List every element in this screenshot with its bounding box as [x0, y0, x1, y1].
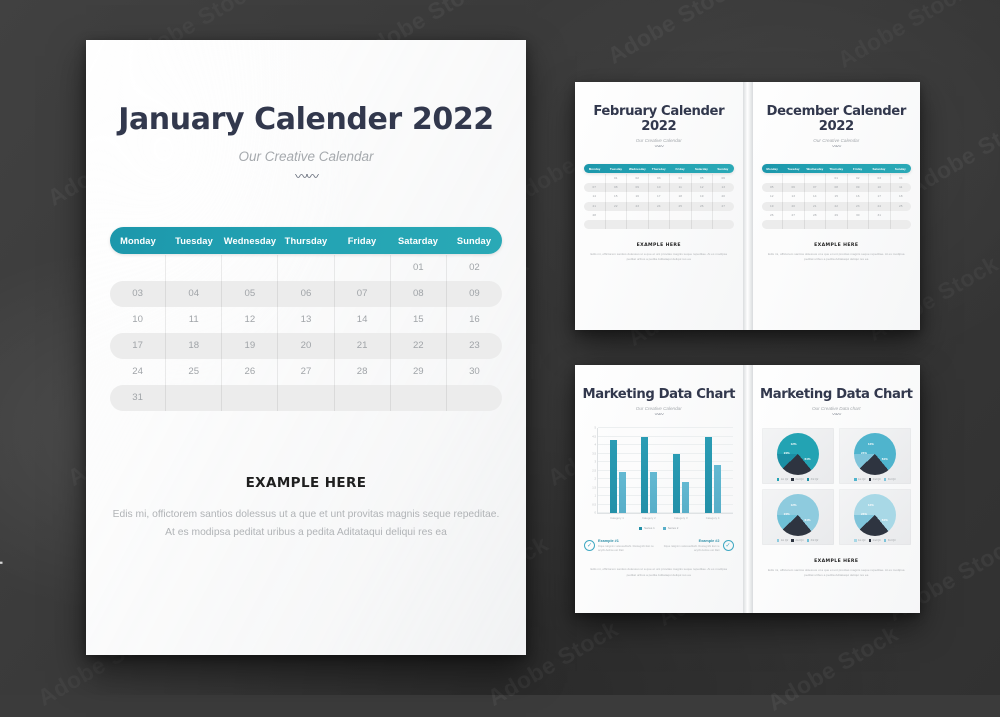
- calendar-week-row: 21222324252627: [584, 202, 734, 211]
- legend-swatch-icon: [807, 478, 810, 481]
- footer-title: EXAMPLE HERE: [767, 243, 907, 248]
- footer-body: Edis mi, offictorem santios dolessus ut …: [589, 567, 729, 578]
- bar-chart-y-tick: 4: [595, 444, 597, 447]
- calendar-day-empty: [762, 220, 784, 229]
- pie-slice-label: 64%: [882, 518, 888, 522]
- calendar-week-row: 0102: [110, 255, 502, 281]
- calendar-day-empty: [584, 220, 606, 229]
- calendar-day-cell[interactable]: 12: [222, 307, 278, 333]
- example-body: Dque ratignim velesseditaht. Restegnibi …: [598, 545, 656, 554]
- calendar-week-row: [762, 220, 912, 229]
- calendar-day-cell[interactable]: 24: [110, 359, 166, 385]
- calendar-day-cell[interactable]: 05: [222, 281, 278, 307]
- calendar-day-cell[interactable]: 12: [762, 192, 784, 201]
- legend-item: 1st Qtr: [854, 478, 866, 481]
- calendar-day-cell[interactable]: 21: [335, 333, 391, 359]
- calendar-day-cell[interactable]: 27: [278, 359, 334, 385]
- legend-label: 2nd Qtr: [873, 539, 881, 542]
- check-circle-icon: ✓: [723, 540, 734, 551]
- calendar-day-cell[interactable]: 27: [713, 202, 734, 211]
- december-subtitle: Our Creative Calendar: [753, 138, 921, 143]
- legend-label: 1st Qtr: [781, 478, 789, 481]
- calendar-day-empty: [391, 385, 447, 411]
- bar-groups: [598, 428, 733, 513]
- calendar-day-cell[interactable]: 04: [670, 174, 692, 183]
- weekday-thursday: Thursday: [278, 236, 334, 246]
- legend-item: 2nd Qtr: [791, 539, 803, 542]
- calendar-day-cell[interactable]: 19: [762, 202, 784, 211]
- calendar-day-cell[interactable]: 20: [783, 202, 805, 211]
- pie-chart-grid: 64%24%12%1st Qtr2nd Qtr3rd Qtr64%24%12%1…: [762, 428, 912, 545]
- calendar-day-cell[interactable]: 14: [335, 307, 391, 333]
- calendar-day-cell[interactable]: 08: [826, 183, 848, 192]
- calendar-day-empty: [649, 211, 671, 220]
- january-subtitle: Our Creative Calendar: [86, 149, 526, 164]
- footer-body: Edis mi, offictorem santios dolessus ut …: [767, 568, 907, 579]
- weekday-wednesday: Wednesday: [222, 236, 278, 246]
- legend-label: 2nd Qtr: [795, 539, 803, 542]
- pie-chart-card: 64%24%12%1st Qtr2nd Qtr3rd Qtr: [839, 489, 911, 545]
- legend-label: 3rd Qtr: [811, 539, 819, 542]
- bar-series-1: [641, 437, 648, 514]
- legend-swatch-icon: [663, 527, 666, 530]
- bar-series-1: [673, 454, 680, 514]
- bar-chart-y-tick: 2.5: [592, 469, 596, 472]
- bar-group: [697, 428, 729, 513]
- calendar-day-empty: [783, 220, 805, 229]
- bar-chart-y-tick: 1.5: [592, 486, 596, 489]
- calendar-week-row: 28: [584, 211, 734, 220]
- check-circle-icon: ✓: [584, 540, 595, 551]
- legend-swatch-icon: [777, 478, 780, 481]
- legend-label: Series 1: [644, 526, 655, 530]
- calendar-day-cell[interactable]: 22: [606, 202, 628, 211]
- legend-item: 2nd Qtr: [791, 478, 803, 481]
- calendar-day-cell[interactable]: 15: [391, 307, 447, 333]
- bar-series-2: [682, 482, 689, 513]
- calendar-day-cell[interactable]: 25: [891, 202, 912, 211]
- bar-chart-x-label: Category 3: [665, 516, 697, 520]
- calendar-day-cell[interactable]: 28: [584, 211, 606, 220]
- pie-chart-card: 64%24%12%1st Qtr2nd Qtr3rd Qtr: [839, 428, 911, 484]
- marketing-chart-spread: Marketing Data Chart Our Creative Calend…: [575, 365, 920, 613]
- bar-chart-y-tick: 1: [595, 495, 597, 498]
- bar-chart: 00.511.522.533.544.55 Category 1Category…: [585, 428, 733, 530]
- calendar-day-cell[interactable]: 18: [166, 333, 222, 359]
- january-footer: EXAMPLE HERE Edis mi, offictorem santios…: [86, 475, 526, 542]
- december-title: December Calender 2022: [753, 104, 921, 134]
- calendar-day-empty: [891, 220, 912, 229]
- calendar-day-cell[interactable]: 31: [869, 211, 891, 220]
- calendar-day-cell[interactable]: 23: [627, 202, 649, 211]
- legend-swatch-icon: [807, 539, 810, 542]
- calendar-day-cell[interactable]: 30: [447, 359, 502, 385]
- february-title: February Calender 2022: [575, 104, 743, 134]
- legend-swatch-icon: [777, 539, 780, 542]
- bar-chart-y-tick: 4.5: [592, 435, 596, 438]
- legend-swatch-icon: [884, 539, 887, 542]
- legend-swatch-icon: [869, 478, 872, 481]
- legend-swatch-icon: [791, 478, 794, 481]
- pie-slice-label: 64%: [882, 457, 888, 461]
- calendar-day-cell[interactable]: 02: [848, 174, 870, 183]
- calendar-day-empty: [606, 220, 628, 229]
- squiggle-divider-icon: 〰〰: [575, 413, 743, 418]
- calendar-day-empty: [670, 220, 692, 229]
- calendar-day-cell[interactable]: 27: [783, 211, 805, 220]
- calendar-day-cell[interactable]: 11: [891, 183, 912, 192]
- weekday-thursday: Thursday: [826, 167, 847, 171]
- calendar-day-cell[interactable]: 09: [447, 281, 502, 307]
- calendar-day-cell[interactable]: 24: [649, 202, 671, 211]
- calendar-day-cell[interactable]: 05: [762, 183, 784, 192]
- pie-chart: 64%24%12%: [777, 494, 819, 536]
- weekday-tuesday: Tuesday: [166, 236, 222, 246]
- legend-label: 1st Qtr: [858, 539, 866, 542]
- february-weeks: 0102030405060708091011121314151617181920…: [584, 174, 734, 229]
- legend-swatch-icon: [639, 527, 642, 530]
- calendar-day-empty: [848, 220, 870, 229]
- weekday-satarday: Satarday: [691, 167, 712, 171]
- calendar-day-cell[interactable]: 14: [805, 192, 827, 201]
- calendar-day-empty: [783, 174, 805, 183]
- calendar-day-cell[interactable]: 04: [166, 281, 222, 307]
- calendar-day-cell[interactable]: 15: [826, 192, 848, 201]
- calendar-day-empty: [166, 385, 222, 411]
- calendar-day-cell[interactable]: 09: [848, 183, 870, 192]
- legend-label: 3rd Qtr: [888, 478, 896, 481]
- calendar-week-row: 24252627282930: [110, 359, 502, 385]
- calendar-day-cell[interactable]: 30: [848, 211, 870, 220]
- calendar-day-cell[interactable]: 16: [447, 307, 502, 333]
- legend-item: 3rd Qtr: [807, 478, 819, 481]
- calendar-week-row: 262728293031: [762, 211, 912, 220]
- december-calendar-table: MondayTuesdayWednesdayThursdayFridaySata…: [762, 164, 912, 229]
- weekday-header-row: MondayTuesdayWednesdayThursdayFridaySata…: [584, 164, 734, 173]
- legend-label: Series 2: [668, 526, 679, 530]
- footer-body: Edis mi, offictorem santios dolessus ut …: [112, 506, 500, 542]
- footer-body: Edis mi, offictorem santios dolessus ut …: [589, 252, 729, 263]
- february-subtitle: Our Creative Calendar: [575, 138, 743, 143]
- bar-series-2: [714, 465, 721, 513]
- calendar-day-empty: [278, 255, 334, 281]
- bar-group: [634, 428, 666, 513]
- calendar-day-empty: [805, 174, 827, 183]
- calendar-day-cell[interactable]: 08: [391, 281, 447, 307]
- bar-chart-legend: Series 1Series 2: [585, 526, 733, 530]
- calendar-day-cell[interactable]: 16: [848, 192, 870, 201]
- pie-slice-label: 12%: [868, 503, 874, 507]
- example-title: Example #2: [661, 539, 719, 543]
- pie-slice-label: 64%: [804, 457, 810, 461]
- calendar-day-cell[interactable]: 23: [848, 202, 870, 211]
- calendar-day-cell[interactable]: 02: [447, 255, 502, 281]
- calendar-day-cell[interactable]: 03: [110, 281, 166, 307]
- calendar-day-cell[interactable]: 21: [584, 202, 606, 211]
- weekday-sunday: Sunday: [712, 167, 733, 171]
- footer-title: EXAMPLE HERE: [112, 475, 500, 491]
- calendar-day-cell[interactable]: 01: [606, 174, 628, 183]
- calendar-day-cell[interactable]: 26: [762, 211, 784, 220]
- calendar-day-cell[interactable]: 01: [391, 255, 447, 281]
- pie-chart-legend: 1st Qtr2nd Qtr3rd Qtr: [777, 539, 819, 542]
- calendar-day-cell[interactable]: 11: [670, 183, 692, 192]
- bar-series-1: [705, 437, 712, 514]
- pie-chart: 64%24%12%: [854, 433, 896, 475]
- bar-series-1: [610, 440, 617, 513]
- bar-chart-y-tick: 3.5: [592, 452, 596, 455]
- calendar-week-row: 19202122232425: [762, 202, 912, 211]
- pie-chart: 64%24%12%: [854, 494, 896, 536]
- calendar-day-cell[interactable]: 03: [649, 174, 671, 183]
- calendar-day-cell[interactable]: 25: [670, 202, 692, 211]
- pie-chart-legend: 1st Qtr2nd Qtr3rd Qtr: [777, 478, 819, 481]
- legend-label: 1st Qtr: [858, 478, 866, 481]
- weekday-sunday: Sunday: [890, 167, 911, 171]
- weekday-sunday: Sunday: [446, 236, 502, 246]
- calendar-week-row: 12131415161718: [762, 192, 912, 201]
- calendar-day-cell[interactable]: 24: [869, 202, 891, 211]
- calendar-day-cell[interactable]: 07: [805, 183, 827, 192]
- calendar-day-empty: [606, 211, 628, 220]
- pie-slice-label: 24%: [861, 512, 867, 516]
- calendar-week-row: 03040506070809: [110, 281, 502, 307]
- calendar-day-empty: [649, 220, 671, 229]
- example-text: Example #1Dque ratignim velesseditaht. R…: [598, 539, 656, 553]
- calendar-day-cell[interactable]: 18: [891, 192, 912, 201]
- calendar-day-empty: [627, 220, 649, 229]
- calendar-day-cell[interactable]: 29: [826, 211, 848, 220]
- stock-id-watermark: Adobe Stock | #479083504: [0, 454, 4, 681]
- bar-group: [602, 428, 634, 513]
- weekday-tuesday: Tuesday: [605, 167, 626, 171]
- legend-item: Series 1: [639, 526, 655, 530]
- calendar-day-cell[interactable]: 07: [335, 281, 391, 307]
- legend-label: 2nd Qtr: [795, 478, 803, 481]
- calendar-day-empty: [713, 220, 734, 229]
- calendar-day-cell[interactable]: 13: [278, 307, 334, 333]
- pie-chart-legend: 1st Qtr2nd Qtr3rd Qtr: [854, 478, 896, 481]
- calendar-day-cell[interactable]: 29: [391, 359, 447, 385]
- calendar-day-empty: [584, 174, 606, 183]
- bar-chart-x-label: Category 2: [633, 516, 665, 520]
- calendar-day-empty: [627, 211, 649, 220]
- calendar-day-cell[interactable]: 17: [110, 333, 166, 359]
- calendar-day-cell[interactable]: 06: [278, 281, 334, 307]
- calendar-day-cell[interactable]: 19: [692, 192, 714, 201]
- bar-group: [665, 428, 697, 513]
- weekday-tuesday: Tuesday: [783, 167, 804, 171]
- calendar-day-cell[interactable]: 14: [584, 192, 606, 201]
- squiggle-divider-icon: 〰〰: [575, 145, 743, 150]
- calendar-day-cell[interactable]: 11: [166, 307, 222, 333]
- footer-body: Edis mi, offictorem santios dolessus ut …: [767, 252, 907, 263]
- calendar-day-cell[interactable]: 26: [692, 202, 714, 211]
- legend-label: 1st Qtr: [781, 539, 789, 542]
- calendar-day-cell[interactable]: 08: [606, 183, 628, 192]
- pie-chart-title: Marketing Data Chart: [753, 387, 921, 402]
- february-calendar-page: February Calender 2022 Our Creative Cale…: [575, 82, 743, 330]
- weekday-monday: Monday: [762, 167, 783, 171]
- calendar-day-cell[interactable]: 10: [869, 183, 891, 192]
- calendar-day-cell[interactable]: 28: [805, 211, 827, 220]
- bar-chart-y-tick: 0: [595, 512, 597, 515]
- calendar-day-cell[interactable]: 22: [826, 202, 848, 211]
- calendar-day-cell[interactable]: 18: [670, 192, 692, 201]
- spread-gutter: [743, 82, 753, 330]
- footer-title: EXAMPLE HERE: [767, 559, 907, 564]
- bar-chart-title: Marketing Data Chart: [575, 387, 743, 402]
- legend-item: Series 2: [663, 526, 679, 530]
- calendar-day-cell[interactable]: 20: [713, 192, 734, 201]
- calendar-day-empty: [447, 385, 502, 411]
- calendar-day-cell[interactable]: 05: [692, 174, 714, 183]
- calendar-spread: February Calender 2022 Our Creative Cale…: [575, 82, 920, 330]
- legend-label: 3rd Qtr: [888, 539, 896, 542]
- calendar-day-cell[interactable]: 17: [869, 192, 891, 201]
- calendar-week-row: 01020304: [762, 174, 912, 183]
- weekday-friday: Friday: [847, 167, 868, 171]
- footer-title: EXAMPLE HERE: [589, 243, 729, 248]
- calendar-week-row: 14151617181920: [584, 192, 734, 201]
- calendar-week-row: 10111213141516: [110, 307, 502, 333]
- calendar-day-empty: [692, 211, 714, 220]
- weekday-friday: Friday: [669, 167, 690, 171]
- calendar-day-empty: [335, 385, 391, 411]
- bar-chart-plot-area: 00.511.522.533.544.55: [597, 428, 733, 514]
- bar-chart-footer: Edis mi, offictorem santios dolessus ut …: [575, 567, 743, 578]
- calendar-day-cell[interactable]: 13: [713, 183, 734, 192]
- december-calendar-page: December Calender 2022 Our Creative Cale…: [753, 82, 921, 330]
- january-calendar-table: MondayTuesdayWednesdayThursdayFridaySata…: [110, 227, 502, 411]
- calendar-day-cell[interactable]: 26: [222, 359, 278, 385]
- calendar-week-row: 17181920212223: [110, 333, 502, 359]
- example-title: Example #1: [598, 539, 656, 543]
- december-footer: EXAMPLE HERE Edis mi, offictorem santios…: [753, 243, 921, 263]
- calendar-day-empty: [278, 385, 334, 411]
- legend-item: 3rd Qtr: [884, 539, 896, 542]
- december-weeks: 0102030405060708091011121314151617181920…: [762, 174, 912, 229]
- legend-swatch-icon: [854, 539, 857, 542]
- legend-swatch-icon: [854, 478, 857, 481]
- legend-swatch-icon: [884, 478, 887, 481]
- calendar-day-cell[interactable]: 21: [805, 202, 827, 211]
- calendar-day-cell[interactable]: 22: [391, 333, 447, 359]
- calendar-day-empty: [826, 220, 848, 229]
- calendar-day-cell[interactable]: 02: [627, 174, 649, 183]
- calendar-day-cell[interactable]: 06: [713, 174, 734, 183]
- example-body: Dque ratignim velesseditaht. Restegnibi …: [661, 545, 719, 554]
- example-callouts: ✓Example #1Dque ratignim velesseditaht. …: [584, 539, 734, 553]
- calendar-day-cell[interactable]: 13: [783, 192, 805, 201]
- bar-chart-subtitle: Our Creative Calendar: [575, 406, 743, 411]
- calendar-day-cell[interactable]: 20: [278, 333, 334, 359]
- january-weeks: 0102030405060708091011121314151617181920…: [110, 255, 502, 411]
- calendar-day-empty: [110, 255, 166, 281]
- calendar-day-empty: [670, 211, 692, 220]
- example-text: Example #2Dque ratignim velesseditaht. R…: [661, 539, 719, 553]
- legend-label: 2nd Qtr: [873, 478, 881, 481]
- legend-swatch-icon: [791, 539, 794, 542]
- weekday-friday: Friday: [334, 236, 390, 246]
- calendar-day-empty: [762, 174, 784, 183]
- bar-chart-x-label: Category 1: [601, 516, 633, 520]
- calendar-day-cell[interactable]: 25: [166, 359, 222, 385]
- calendar-day-cell[interactable]: 07: [584, 183, 606, 192]
- calendar-day-empty: [692, 220, 714, 229]
- calendar-week-row: 07080910111213: [584, 183, 734, 192]
- weekday-thursday: Thursday: [648, 167, 669, 171]
- pie-slice-label: 12%: [868, 442, 874, 446]
- legend-item: 2nd Qtr: [869, 478, 881, 481]
- calendar-day-cell[interactable]: 17: [649, 192, 671, 201]
- calendar-day-cell[interactable]: 10: [649, 183, 671, 192]
- pie-chart-footer: EXAMPLE HERE Edis mi, offictorem santios…: [753, 559, 921, 579]
- calendar-day-cell[interactable]: 10: [110, 307, 166, 333]
- legend-item: 1st Qtr: [777, 539, 789, 542]
- calendar-day-cell[interactable]: 15: [606, 192, 628, 201]
- weekday-monday: Monday: [110, 236, 166, 246]
- bar-chart-y-tick: 5: [595, 427, 597, 430]
- weekday-satarday: Satarday: [868, 167, 889, 171]
- pie-slice-label: 12%: [791, 503, 797, 507]
- spread-gutter: [743, 365, 753, 613]
- calendar-day-cell[interactable]: 03: [869, 174, 891, 183]
- january-title: January Calender 2022: [86, 102, 526, 137]
- pie-chart-page: Marketing Data Chart Our Creative Data c…: [753, 365, 921, 613]
- weekday-wednesday: Wednesday: [804, 167, 825, 171]
- legend-item: 1st Qtr: [777, 478, 789, 481]
- legend-item: 2nd Qtr: [869, 539, 881, 542]
- bar-chart-y-tick: 0.5: [592, 503, 596, 506]
- legend-swatch-icon: [869, 539, 872, 542]
- calendar-day-cell[interactable]: 04: [891, 174, 912, 183]
- pie-slice-label: 24%: [784, 451, 790, 455]
- calendar-day-cell[interactable]: 31: [110, 385, 166, 411]
- bar-series-2: [650, 472, 657, 513]
- legend-label: 3rd Qtr: [811, 478, 819, 481]
- calendar-day-cell[interactable]: 19: [222, 333, 278, 359]
- bar-chart-y-tick: 2: [595, 478, 597, 481]
- calendar-day-cell[interactable]: 28: [335, 359, 391, 385]
- pie-slice-label: 64%: [804, 518, 810, 522]
- pie-slice-label: 12%: [791, 442, 797, 446]
- weekday-header-row: MondayTuesdayWednesdayThursdayFridaySata…: [110, 227, 502, 254]
- pie-chart-legend: 1st Qtr2nd Qtr3rd Qtr: [854, 539, 896, 542]
- pie-chart-card: 64%24%12%1st Qtr2nd Qtr3rd Qtr: [762, 428, 834, 484]
- squiggle-divider-icon: 〰〰: [753, 145, 921, 150]
- pie-chart-subtitle: Our Creative Data chart: [753, 406, 921, 411]
- legend-item: 3rd Qtr: [884, 478, 896, 481]
- calendar-day-empty: [891, 211, 912, 220]
- calendar-day-empty: [222, 255, 278, 281]
- calendar-day-cell[interactable]: 01: [826, 174, 848, 183]
- calendar-day-cell[interactable]: 06: [783, 183, 805, 192]
- weekday-wednesday: Wednesday: [627, 167, 648, 171]
- bar-chart-x-labels: Category 1Category 2Category 3Category 4: [597, 516, 733, 520]
- calendar-week-row: 010203040506: [584, 174, 734, 183]
- calendar-day-cell[interactable]: 23: [447, 333, 502, 359]
- pie-chart-card: 64%24%12%1st Qtr2nd Qtr3rd Qtr: [762, 489, 834, 545]
- january-calendar-page: January Calender 2022 Our Creative Calen…: [86, 40, 526, 655]
- pie-slice-label: 24%: [861, 451, 867, 455]
- calendar-day-cell[interactable]: 09: [627, 183, 649, 192]
- calendar-day-cell[interactable]: 16: [627, 192, 649, 201]
- bar-chart-y-tick: 3: [595, 461, 597, 464]
- calendar-day-cell[interactable]: 12: [692, 183, 714, 192]
- calendar-day-empty: [713, 211, 734, 220]
- weekday-satarday: Satarday: [390, 236, 446, 246]
